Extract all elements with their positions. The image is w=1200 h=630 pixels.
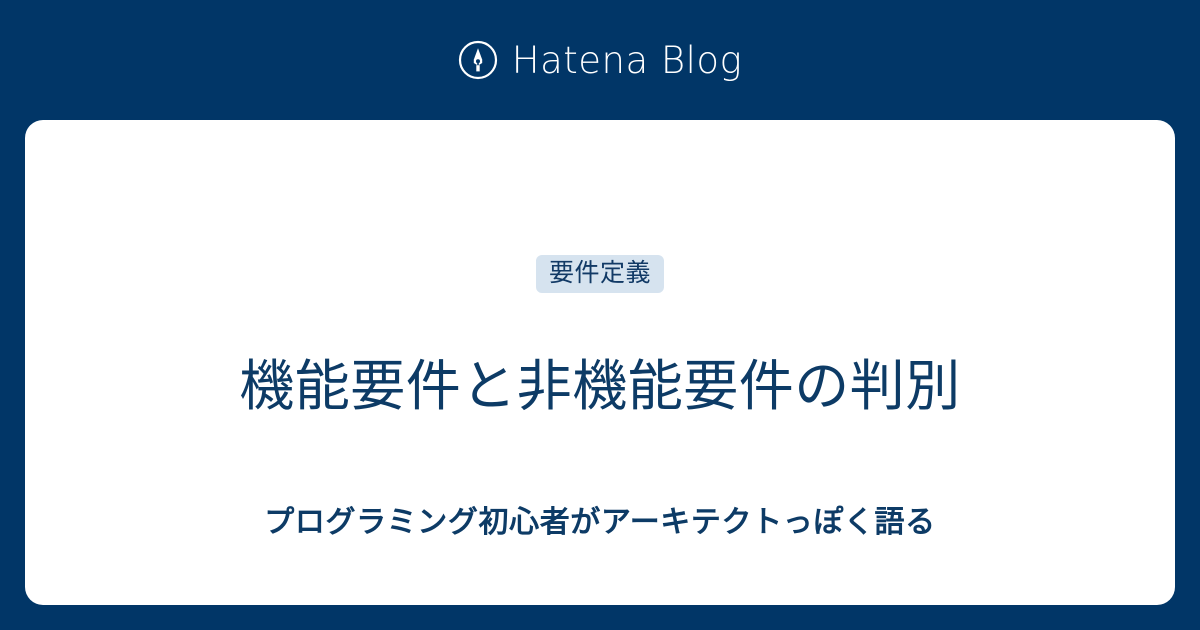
entry-title: 機能要件と非機能要件の判別 bbox=[70, 355, 1130, 419]
blog-subtitle: プログラミング初心者がアーキテクトっぽく語る bbox=[70, 505, 1130, 541]
entry-card-inner: 要件定義 機能要件と非機能要件の判別 プログラミング初心者がアーキテクトっぽく語… bbox=[25, 120, 1175, 605]
hatena-blog-logo-icon bbox=[458, 40, 498, 80]
entry-card: 要件定義 機能要件と非機能要件の判別 プログラミング初心者がアーキテクトっぽく語… bbox=[25, 120, 1175, 605]
category-badge[interactable]: 要件定義 bbox=[536, 255, 664, 293]
ogp-card: Hatena Blog 要件定義 機能要件と非機能要件の判別 プログラミング初心… bbox=[0, 0, 1200, 630]
brand-name: Hatena Blog bbox=[512, 42, 743, 79]
brand-header[interactable]: Hatena Blog bbox=[0, 0, 1200, 120]
